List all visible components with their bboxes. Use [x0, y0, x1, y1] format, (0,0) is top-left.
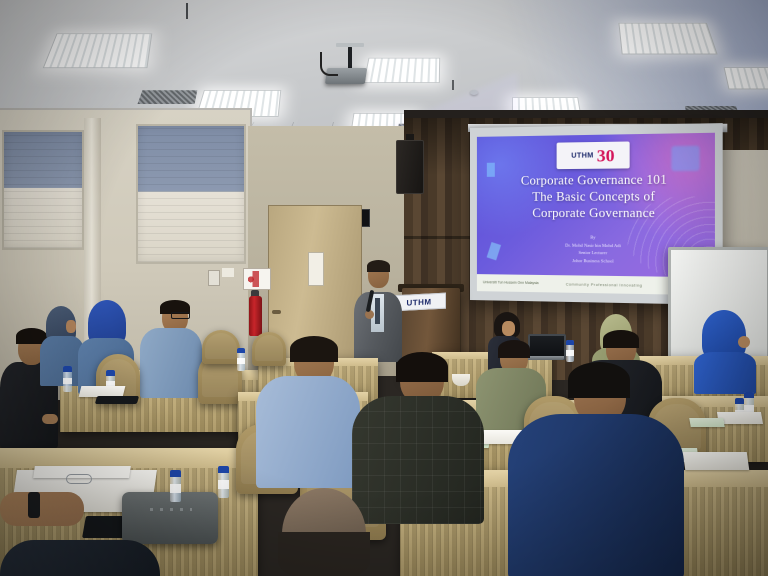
slide-footer-tagline: Community Professional Innovating	[566, 282, 643, 287]
attendee	[248, 488, 400, 576]
attendee-face	[502, 321, 515, 336]
slide-title-line1: Corporate Governance 101	[477, 171, 715, 189]
blind-slats	[4, 132, 82, 248]
presenter-glasses	[369, 271, 388, 276]
attendee-hair	[498, 340, 530, 358]
uthm-logo-text: UTHM	[571, 152, 593, 159]
door-notice	[308, 252, 324, 286]
water-bottle	[170, 470, 181, 502]
ceiling-light-panel	[43, 33, 153, 68]
attendee-hair	[396, 352, 448, 382]
attendee	[694, 310, 758, 390]
slide-decoration	[671, 146, 699, 172]
slide-title-line3: Corporate Governance	[477, 205, 715, 222]
projector-cable	[320, 52, 338, 76]
attendee	[256, 336, 364, 486]
slide-footer-left-logo: Universiti Tun Hussein Onn Malaysia	[483, 281, 539, 286]
attendee-suit	[508, 414, 684, 576]
mobile-phone	[95, 396, 139, 404]
water-bottle	[566, 340, 574, 362]
door-handle[interactable]	[272, 310, 281, 314]
attendee-top	[694, 352, 756, 394]
attendee	[508, 362, 688, 576]
bottle-cap	[170, 470, 181, 477]
handout-papers	[683, 452, 750, 470]
attendee-hand	[0, 492, 84, 526]
bottle-cap	[237, 348, 245, 353]
wristwatch	[28, 492, 40, 518]
presenter-tie	[375, 298, 380, 324]
window-blind	[2, 130, 84, 250]
bottle-label	[63, 378, 72, 385]
attendee-hair	[278, 532, 370, 576]
attendee-shirt	[256, 376, 360, 488]
bottle-label	[566, 350, 574, 356]
bottle-label	[170, 484, 181, 492]
anniversary-30-text: 30	[597, 146, 615, 164]
projector-mount-arm	[348, 46, 352, 70]
bottle-cap	[218, 466, 229, 473]
ceiling-hanger-rod	[186, 3, 188, 19]
attendee-hair	[568, 362, 630, 398]
water-bottle	[237, 348, 245, 371]
attendee-hand	[738, 336, 750, 348]
attendee-shirt	[140, 328, 202, 398]
slide-title: Corporate Governance 101 The Basic Conce…	[477, 171, 715, 222]
attendee-shoulder	[0, 540, 160, 576]
attendee-hair	[290, 336, 338, 362]
bottle-label	[237, 358, 245, 364]
uthm-anniversary-logo: UTHM 30	[557, 141, 630, 169]
attendee-face	[66, 320, 76, 333]
bottle-label	[744, 405, 754, 412]
conference-room-photo: KELUAR UTHM 30 Corporate Governance 101 …	[0, 0, 768, 576]
bottle-cap	[63, 366, 72, 372]
attendee-glasses	[171, 312, 190, 319]
bottle-cap	[744, 392, 754, 398]
ceiling-light-panel	[724, 67, 768, 89]
bottle-cap	[566, 340, 574, 345]
water-bottle	[63, 366, 72, 392]
attendee	[140, 300, 204, 398]
fire-extinguisher	[249, 296, 262, 336]
slide-title-line2: The Basic Concepts of	[477, 188, 715, 205]
air-vent	[137, 90, 197, 104]
water-bottle	[218, 466, 229, 498]
bottle-label	[218, 480, 229, 488]
fire-extinguisher-sign	[243, 268, 271, 290]
bottle-cap	[106, 370, 115, 376]
projector-ceiling-plate	[336, 43, 364, 47]
eyeglasses	[66, 474, 92, 484]
attendee-hand	[42, 414, 58, 424]
bottle-cap	[735, 398, 744, 404]
wall-speaker	[396, 140, 424, 194]
banquet-chair	[202, 330, 240, 364]
fire-extinguisher-pictogram	[246, 271, 268, 287]
wall-notice-small	[222, 268, 234, 277]
wall-switch-panel	[208, 270, 220, 286]
blind-slats	[138, 126, 244, 262]
handout-papers	[689, 418, 725, 427]
bag-studs	[150, 508, 192, 511]
window-blind	[136, 124, 246, 264]
attendee-hair	[603, 330, 639, 348]
ceiling-light-panel	[618, 23, 717, 55]
